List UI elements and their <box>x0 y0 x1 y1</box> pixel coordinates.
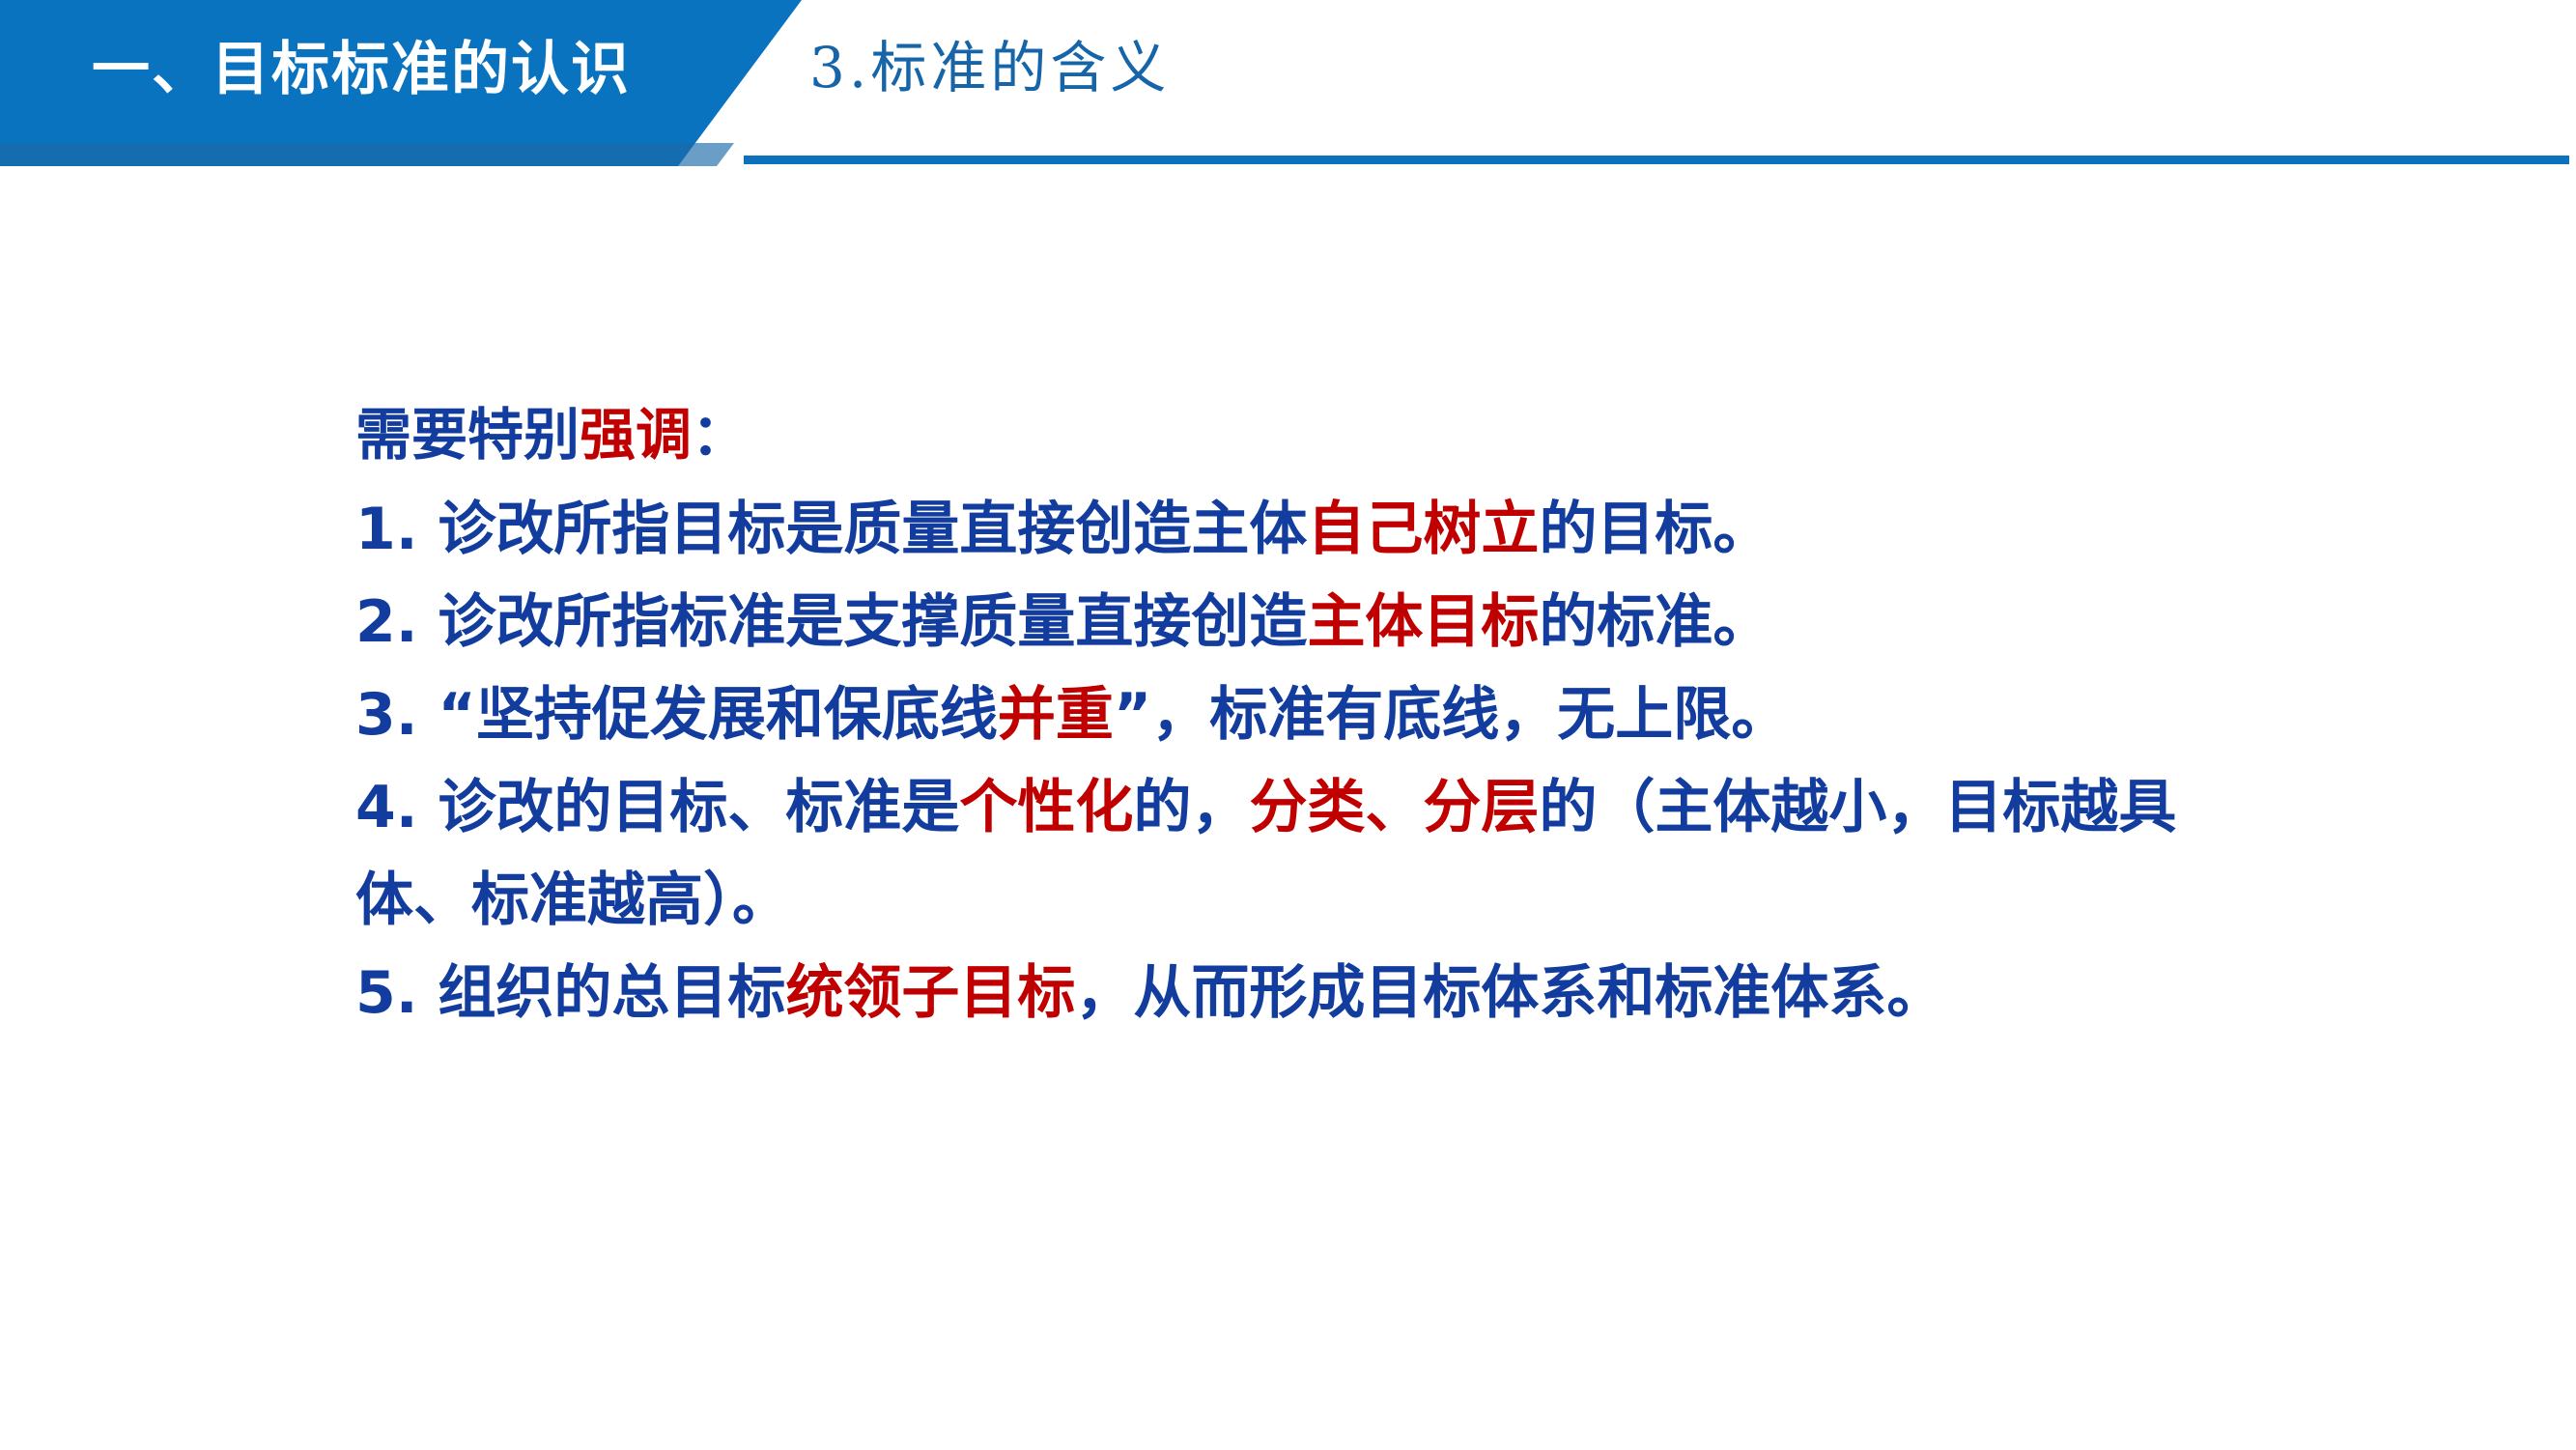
list-item-highlight: 个性化 <box>959 774 1133 841</box>
list-item-highlight: 分类、分层 <box>1249 774 1539 841</box>
list-item-text: ”，标准有底线，无上限。 <box>1114 681 1789 749</box>
lead-paragraph: 需要特别强调： <box>355 386 2384 483</box>
list-item: 3. “坚持促发展和保底线并重”，标准有底线，无上限。 <box>355 668 2384 761</box>
list-item-text: 组织的总目标 <box>418 959 786 1027</box>
list-item-number: 4. <box>355 774 418 841</box>
list-item-text: 诊改的目标、标准是 <box>418 774 960 841</box>
list-item-text: 诊改所指标准是支撑质量直接创造 <box>418 588 1308 656</box>
list-item-highlight: 主体目标 <box>1307 588 1539 656</box>
header-banner-shadow <box>0 143 734 166</box>
list-item-number: 2. <box>355 588 418 656</box>
list-item: 2. 诊改所指标准是支撑质量直接创造主体目标的标准。 <box>355 576 2384 668</box>
slide-subtitle: 3.标准的含义 <box>809 29 1170 106</box>
list-item-highlight: 并重 <box>998 681 1114 749</box>
slide-header: 一、目标标准的认识 3.标准的含义 <box>0 0 2576 193</box>
list-item-text: 诊改所指目标是质量直接创造主体 <box>418 496 1308 563</box>
list-item: 5. 组织的总目标统领子目标，从而形成目标体系和标准体系。 <box>355 947 2384 1039</box>
list-item-text: 的标准。 <box>1539 588 1770 656</box>
list-item-number: 5. <box>355 959 418 1027</box>
list-item-number: 1. <box>355 496 418 563</box>
list-item: 1. 诊改所指目标是质量直接创造主体自己树立的目标。 <box>355 483 2384 576</box>
lead-prefix: 需要特别 <box>355 402 580 468</box>
content-block: 需要特别强调： 1. 诊改所指目标是质量直接创造主体自己树立的目标。 2. 诊改… <box>355 386 2384 1039</box>
section-title: 一、目标标准的认识 <box>92 35 710 104</box>
header-divider-rule <box>744 156 2569 164</box>
list-item-text: ，从而形成目标体系和标准体系。 <box>1075 959 1944 1027</box>
list-item-highlight: 统领子目标 <box>785 959 1075 1027</box>
lead-highlight: 强调 <box>580 402 692 468</box>
list-item: 4. 诊改的目标、标准是个性化的，分类、分层的（主体越小，目标越具体、标准越高）… <box>355 761 2249 947</box>
presentation-slide: 一、目标标准的认识 3.标准的含义 需要特别强调： 1. 诊改所指目标是质量直接… <box>0 0 2576 1450</box>
list-item-highlight: 自己树立 <box>1307 496 1539 563</box>
list-item-text: “坚持促发展和保底线 <box>418 681 998 749</box>
list-item-text: 的， <box>1133 774 1249 841</box>
list-item-text: 的目标。 <box>1539 496 1770 563</box>
list-item-number: 3. <box>355 681 418 749</box>
lead-suffix: ： <box>692 402 748 468</box>
